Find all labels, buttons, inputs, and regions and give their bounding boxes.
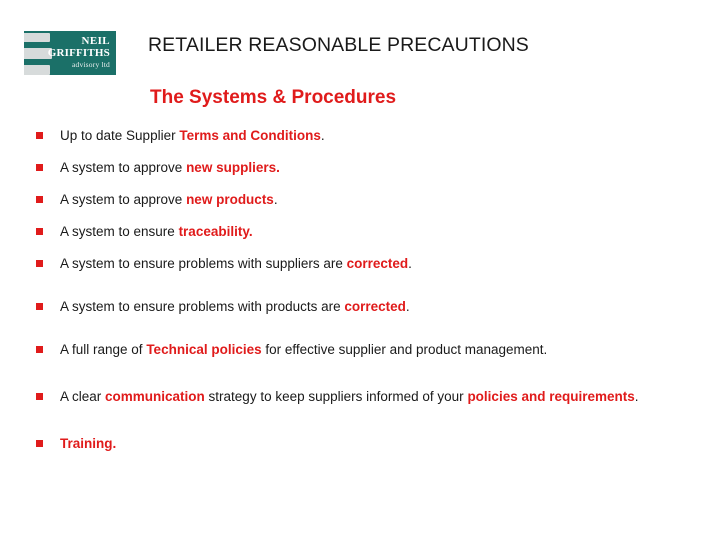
bullet-square-icon (36, 132, 43, 139)
bullet-item-label: Training. (60, 434, 692, 454)
bullet-square-icon (36, 164, 43, 171)
bullet-item-label: A system to ensure problems with product… (60, 297, 692, 317)
bullet-list: Up to date Supplier Terms and Conditions… (32, 126, 692, 483)
logo-bar-bottom (24, 65, 50, 75)
plain-text: . (406, 299, 410, 314)
plain-text: . (635, 389, 639, 404)
bullet-item-label: A system to approve new suppliers. (60, 158, 692, 178)
logo-bar-top (24, 33, 50, 42)
bullet-item-label: A system to ensure traceability. (60, 222, 692, 242)
bullet-square-icon (36, 440, 43, 447)
bullet-item-label: A system to ensure problems with supplie… (60, 254, 692, 274)
plain-text: Up to date Supplier (60, 128, 179, 143)
emphasis-text: corrected (347, 256, 409, 271)
emphasis-text: Terms and Conditions (179, 128, 321, 143)
plain-text: A system to approve (60, 160, 186, 175)
bullet-item-label: Up to date Supplier Terms and Conditions… (60, 126, 692, 146)
emphasis-text: communication (105, 389, 205, 404)
bullet-square-icon (36, 228, 43, 235)
plain-text: . (408, 256, 412, 271)
emphasis-text: new suppliers. (186, 160, 280, 175)
bullet-square-icon (36, 393, 43, 400)
bullet-item-approve-new-suppliers: A system to approve new suppliers. (32, 158, 692, 178)
page-subtitle: The Systems & Procedures (150, 87, 396, 109)
slide: NEIL GRIFFITHS advisory ltd RETAILER REA… (0, 0, 720, 540)
logo-wordmark: NEIL GRIFFITHS advisory ltd (48, 36, 110, 69)
emphasis-text: traceability. (179, 224, 253, 239)
emphasis-text: Technical policies (146, 342, 261, 357)
logo-tagline: advisory ltd (48, 61, 110, 69)
company-logo: NEIL GRIFFITHS advisory ltd (24, 31, 116, 75)
bullet-square-icon (36, 346, 43, 353)
bullet-item-label: A system to approve new products. (60, 190, 692, 210)
emphasis-text: policies and requirements (467, 389, 634, 404)
bullet-item-approve-new-products: A system to approve new products. (32, 190, 692, 210)
bullet-square-icon (36, 303, 43, 310)
emphasis-text: corrected (344, 299, 406, 314)
emphasis-text: Training. (60, 436, 116, 451)
page-title: RETAILER REASONABLE PRECAUTIONS (148, 34, 529, 57)
bullet-square-icon (36, 196, 43, 203)
bullet-square-icon (36, 260, 43, 267)
bullet-item-ensure-traceability: A system to ensure traceability. (32, 222, 692, 242)
plain-text: . (321, 128, 325, 143)
bullet-item-product-problems-corrected: A system to ensure problems with product… (32, 297, 692, 317)
bullet-item-training: Training. (32, 434, 692, 454)
logo-name-last: GRIFFITHS (48, 48, 110, 59)
plain-text: A clear (60, 389, 105, 404)
bullet-item-technical-policies: A full range of Technical policies for e… (32, 340, 692, 360)
plain-text: A system to ensure problems with supplie… (60, 256, 347, 271)
logo-name-first: NEIL (48, 36, 110, 47)
plain-text: . (274, 192, 278, 207)
bullet-item-supplier-problems-corrected: A system to ensure problems with supplie… (32, 254, 692, 274)
plain-text: strategy to keep suppliers informed of y… (205, 389, 468, 404)
bullet-item-communication-strategy: A clear communication strategy to keep s… (32, 387, 692, 407)
plain-text: A system to ensure (60, 224, 179, 239)
bullet-item-label: A full range of Technical policies for e… (60, 340, 692, 360)
plain-text: A system to ensure problems with product… (60, 299, 344, 314)
bullet-item-terms-and-conditions: Up to date Supplier Terms and Conditions… (32, 126, 692, 146)
plain-text: A full range of (60, 342, 146, 357)
plain-text: A system to approve (60, 192, 186, 207)
bullet-item-label: A clear communication strategy to keep s… (60, 387, 692, 407)
emphasis-text: new products (186, 192, 274, 207)
plain-text: for effective supplier and product manag… (262, 342, 548, 357)
